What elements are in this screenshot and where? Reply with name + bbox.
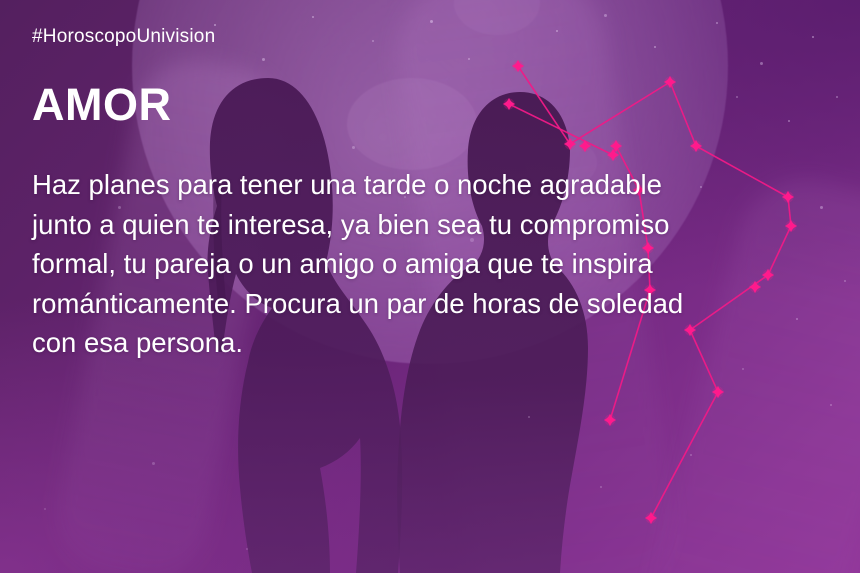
- body-line: con esa persona.: [32, 323, 830, 363]
- text-content: #HoroscopoUnivision AMOR Haz planes para…: [30, 26, 830, 363]
- constellation-star: [645, 512, 657, 524]
- constellation-star: [712, 386, 724, 398]
- body-line: románticamente. Procura un par de horas …: [32, 284, 830, 324]
- body-line: Haz planes para tener una tarde o noche …: [32, 165, 830, 205]
- body-line: formal, tu pareja o un amigo o amiga que…: [32, 244, 830, 284]
- hashtag-label: #HoroscopoUnivision: [32, 26, 830, 48]
- body-line: junto a quien te interesa, ya bien sea t…: [32, 205, 830, 245]
- horoscope-body-text: Haz planes para tener una tarde o noche …: [32, 165, 830, 363]
- page-title: AMOR: [32, 82, 830, 127]
- constellation-star: [604, 414, 616, 426]
- horoscope-card: #HoroscopoUnivision AMOR Haz planes para…: [0, 0, 860, 573]
- constellation-line: [651, 392, 718, 518]
